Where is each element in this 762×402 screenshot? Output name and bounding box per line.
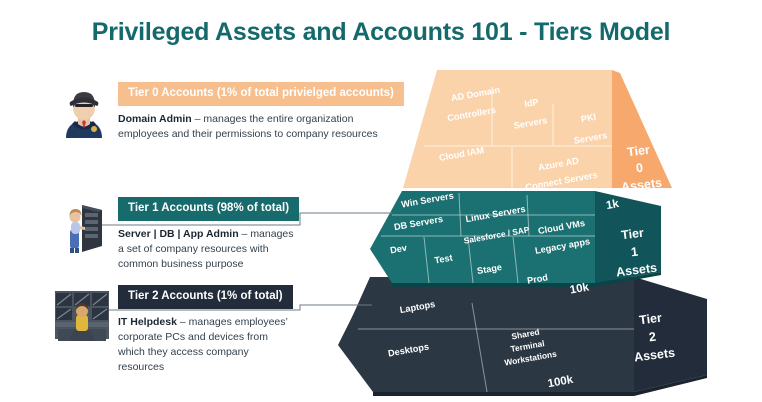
legend-tier0-pill: Tier 0 Accounts (1% of total privielged …: [118, 82, 404, 106]
tier2-front-face: [338, 277, 634, 392]
helpdesk-operator-avatar-icon: [52, 285, 108, 341]
legend-tier1-role: Server | DB | App Admin: [118, 228, 239, 240]
tier2-right-face: [634, 277, 707, 392]
legend-tier2-role: IT Helpdesk: [118, 316, 177, 328]
legend-tier2-pill: Tier 2 Accounts (1% of total): [118, 285, 293, 309]
legend-tier2-description: IT Helpdesk – manages employees’ corpora…: [118, 315, 293, 376]
legend-tier0-dash: –: [192, 113, 204, 125]
tier0-side-label-line1: Tier: [626, 143, 650, 160]
legend-tier1-dash: –: [239, 228, 251, 240]
tier1-side-label-line1: Tier: [620, 226, 644, 243]
legend-tier1-description: Server | DB | App Admin – manages a set …: [118, 227, 299, 273]
pyramid-tier-0: AD Domain Controllers IdP Servers PKI Se…: [403, 70, 672, 212]
legend-tier1-pill: Tier 1 Accounts (98% of total): [118, 197, 299, 221]
police-officer-avatar-icon: [56, 82, 112, 138]
server-rack-admin-avatar-icon: [56, 197, 112, 253]
legend-tier0-role: Domain Admin: [118, 113, 192, 125]
legend-tier0-description: Domain Admin – manages the entire organi…: [118, 112, 388, 142]
tiers-pyramid: Laptops Desktops Shared Terminal Worksta…: [0, 0, 762, 402]
infographic-canvas: Privileged Assets and Accounts 101 - Tie…: [0, 0, 762, 402]
tier2-side-label-line1: Tier: [638, 311, 662, 328]
pyramid-tier-2: Laptops Desktops Shared Terminal Worksta…: [338, 277, 707, 396]
legend-tier2-dash: –: [177, 316, 189, 328]
